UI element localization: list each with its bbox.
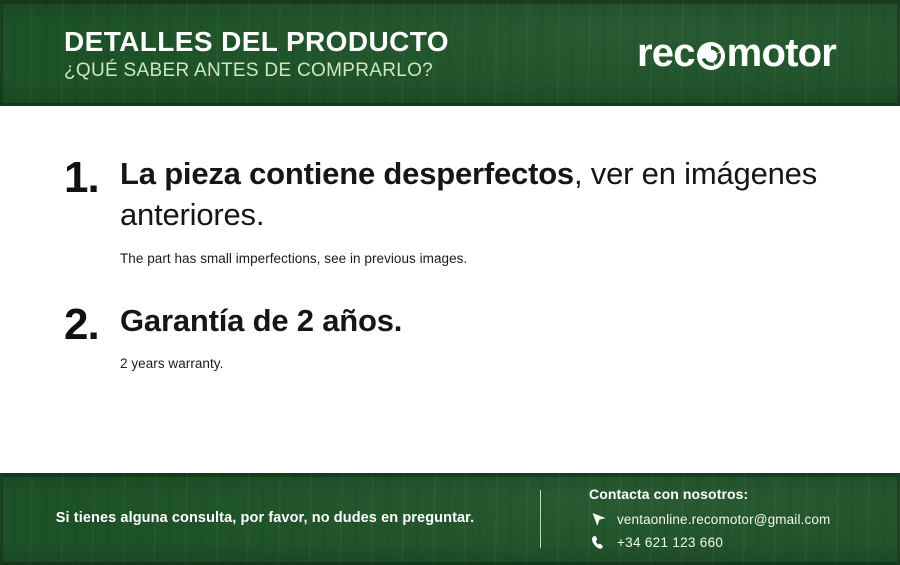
header-text-group: DETALLES DEL PRODUCTO ¿QUÉ SABER ANTES D… [64, 24, 449, 82]
list-item: 2. Garantía de 2 años. 2 years warranty. [64, 301, 840, 372]
list-item-text-en: The part has small imperfections, see in… [120, 250, 840, 268]
list-item-content: Garantía de 2 años. 2 years warranty. [120, 301, 840, 372]
recomotor-logo: rec motor [637, 33, 844, 73]
list-item-text-en: 2 years warranty. [120, 355, 840, 373]
list-item-content: La pieza contiene desperfectos, ver en i… [120, 154, 840, 267]
page-title: DETALLES DEL PRODUCTO [64, 26, 449, 57]
list-item-text-es: Garantía de 2 años. [120, 301, 840, 342]
contact-phone[interactable]: +34 621 123 660 [617, 535, 723, 551]
footer-note: Si tienes alguna consulta, por favor, no… [56, 510, 475, 527]
footer-note-group: Si tienes alguna consulta, por favor, no… [0, 510, 540, 527]
list-item-number: 2. [64, 301, 120, 346]
footer-banner: Si tienes alguna consulta, por favor, no… [0, 473, 900, 565]
recycle-circle-icon [696, 41, 726, 71]
page-subtitle: ¿QUÉ SABER ANTES DE COMPRARLO? [64, 61, 449, 82]
contact-heading: Contacta con nosotros: [589, 487, 860, 502]
footer-divider [540, 490, 541, 548]
list-item-text-es: La pieza contiene desperfectos, ver en i… [120, 154, 840, 236]
contact-email-row[interactable]: ventaonline.recomotor@gmail.com [589, 512, 860, 528]
header-banner: DETALLES DEL PRODUCTO ¿QUÉ SABER ANTES D… [0, 0, 900, 106]
phone-handset-icon [589, 535, 608, 551]
logo-text-before: rec [637, 33, 695, 73]
details-body: 1. La pieza contiene desperfectos, ver e… [0, 106, 900, 473]
product-details-card: DETALLES DEL PRODUCTO ¿QUÉ SABER ANTES D… [0, 0, 900, 565]
list-item-text-es-bold: Garantía de 2 años. [120, 303, 402, 338]
list-item-number: 1. [64, 154, 120, 199]
contact-block: Contacta con nosotros: ventaonline.recom… [589, 487, 860, 550]
contact-email[interactable]: ventaonline.recomotor@gmail.com [617, 512, 830, 528]
contact-phone-row[interactable]: +34 621 123 660 [589, 535, 860, 551]
paper-plane-icon [589, 512, 608, 528]
list-item: 1. La pieza contiene desperfectos, ver e… [64, 154, 840, 267]
list-item-text-es-bold: La pieza contiene desperfectos [120, 156, 574, 191]
logo-text-after: motor [727, 33, 836, 73]
